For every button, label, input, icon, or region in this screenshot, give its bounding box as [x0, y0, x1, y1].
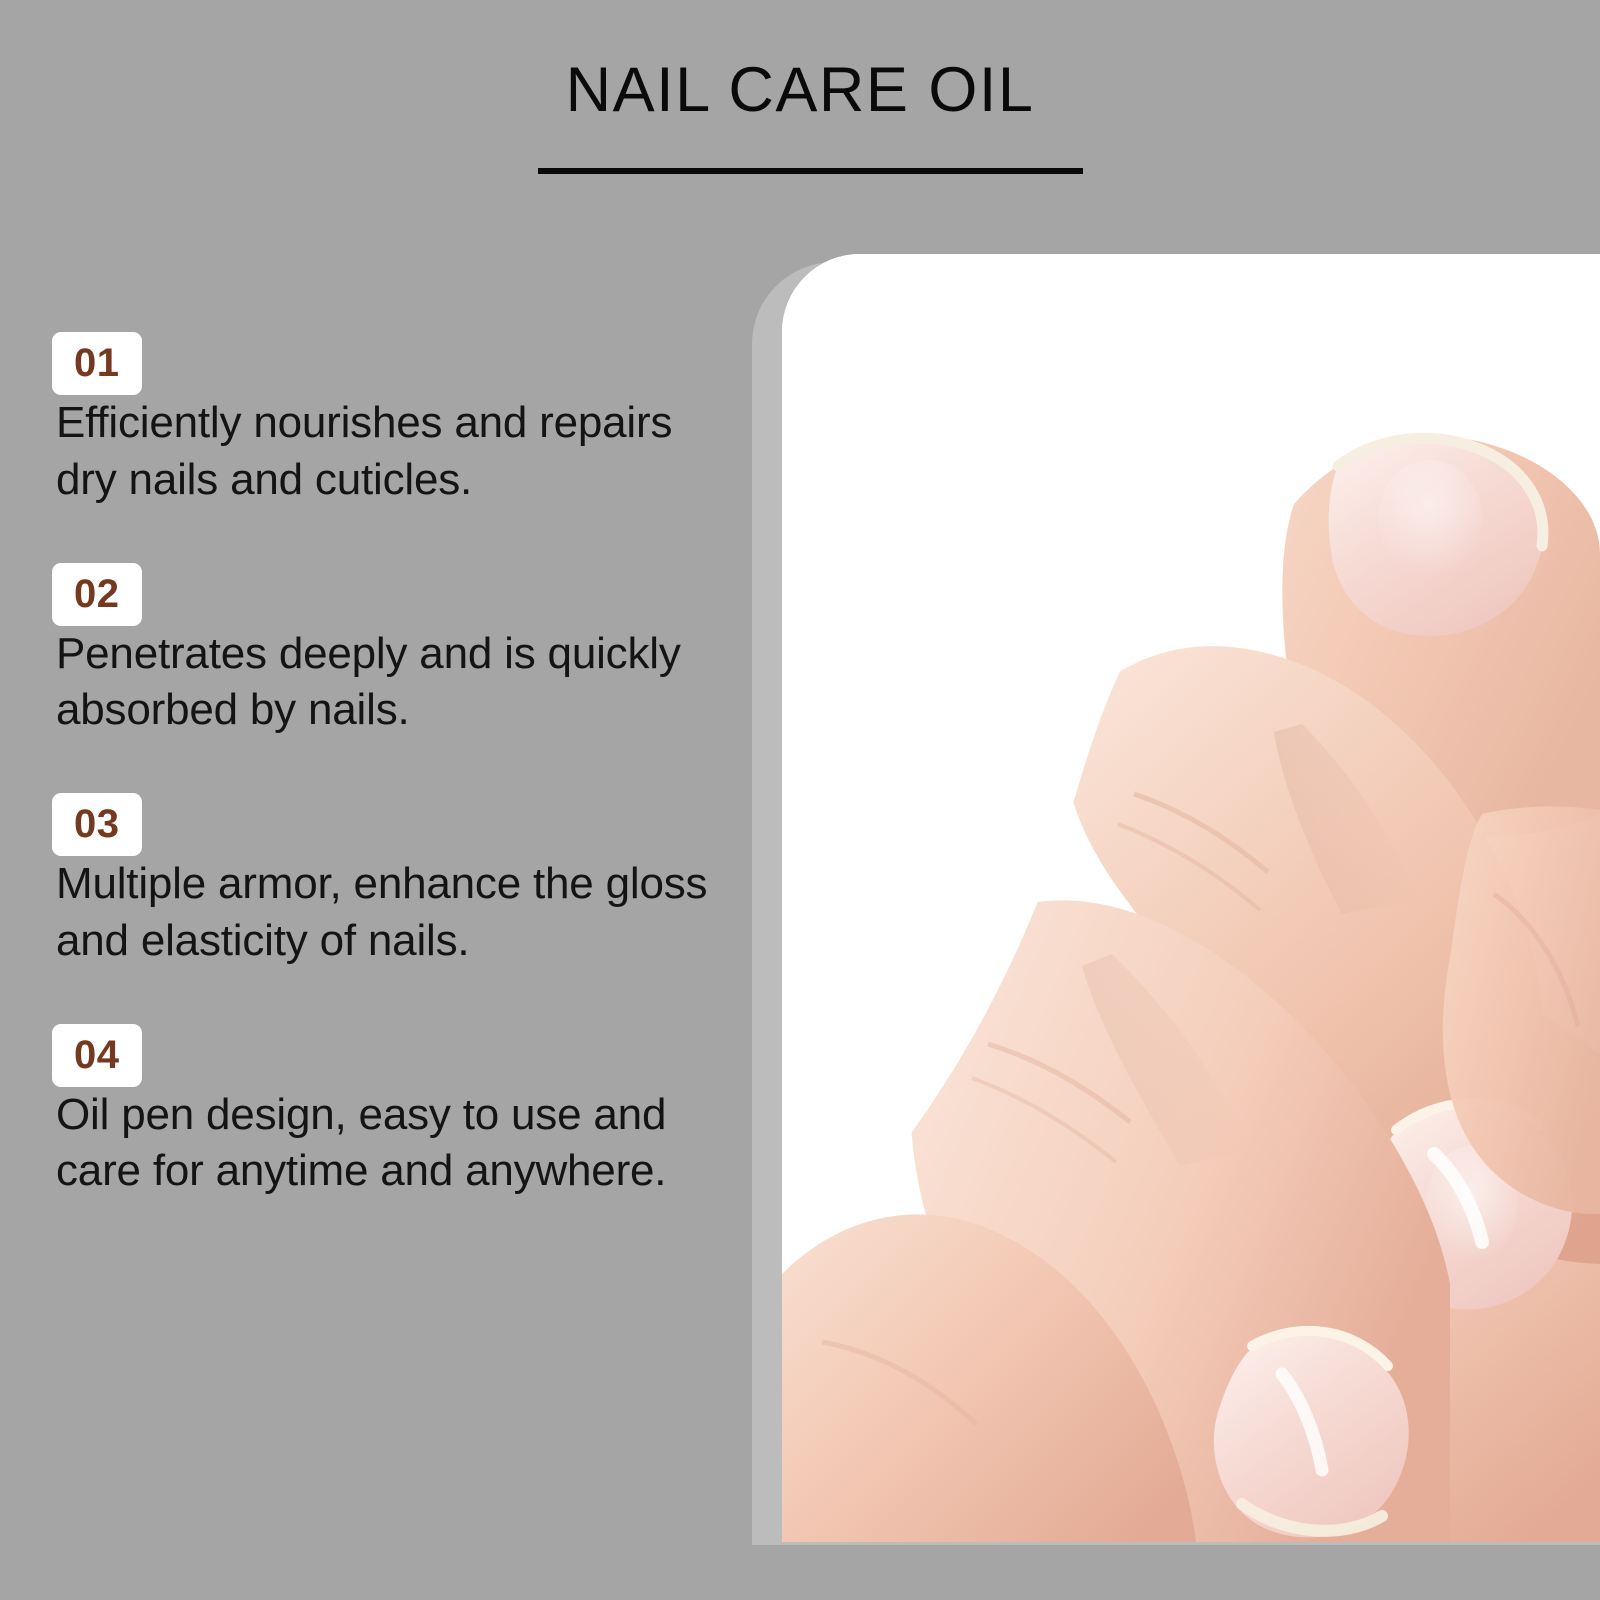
feature-item: 02 Penetrates deeply and is quickly abso…	[52, 563, 712, 740]
feature-number-badge: 03	[52, 793, 142, 856]
feature-description: Multiple armor, enhance the gloss and el…	[52, 856, 712, 970]
feature-description: Penetrates deeply and is quickly absorbe…	[52, 626, 712, 740]
feature-number-badge: 01	[52, 332, 142, 395]
title-divider	[538, 168, 1083, 174]
feature-description: Efficiently nourishes and repairs dry na…	[52, 395, 712, 509]
hand-illustration	[782, 254, 1600, 1542]
feature-list: 01 Efficiently nourishes and repairs dry…	[52, 332, 712, 1200]
feature-number-badge: 04	[52, 1024, 142, 1087]
feature-item: 04 Oil pen design, easy to use and care …	[52, 1024, 712, 1201]
feature-number-badge: 02	[52, 563, 142, 626]
feature-item: 01 Efficiently nourishes and repairs dry…	[52, 332, 712, 509]
hand-photo	[782, 254, 1600, 1542]
page-title: NAIL CARE OIL	[0, 56, 1600, 125]
feature-item: 03 Multiple armor, enhance the gloss and…	[52, 793, 712, 970]
feature-description: Oil pen design, easy to use and care for…	[52, 1087, 712, 1201]
product-infographic: NAIL CARE OIL 01 Efficiently nourishes a…	[0, 0, 1600, 1600]
header: NAIL CARE OIL	[0, 0, 1600, 230]
photo-panel	[782, 254, 1600, 1542]
